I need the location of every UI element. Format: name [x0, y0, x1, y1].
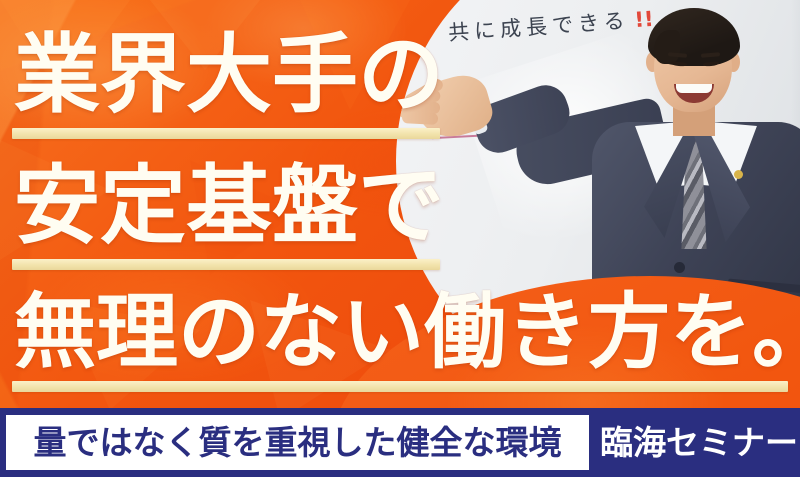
headline-underline-2: [12, 259, 440, 270]
brand-panel: 臨海セミナー: [600, 408, 798, 477]
recruit-banner: 共に成長できる!! セミナー: [0, 0, 800, 477]
headline-underline-1: [12, 128, 440, 139]
bottom-bar: 量ではなく質を重視した健全な環境 臨海セミナー: [0, 408, 800, 477]
headline-line-1: 業界大手の: [14, 32, 444, 118]
lapel-pin: [734, 170, 743, 179]
tagline-panel: 量ではなく質を重視した健全な環境: [6, 415, 589, 470]
hair: [648, 8, 740, 66]
brand-name: 臨海セミナー: [600, 426, 798, 459]
headline-line-2: 安定基盤で: [14, 163, 444, 249]
teeth: [676, 84, 712, 93]
headline-underline-3: [12, 381, 788, 392]
jacket-button: [674, 262, 685, 273]
tagline-text: 量ではなく質を重視した健全な環境: [34, 426, 562, 459]
headline-line-3: 無理のない働き方を。: [14, 292, 800, 374]
